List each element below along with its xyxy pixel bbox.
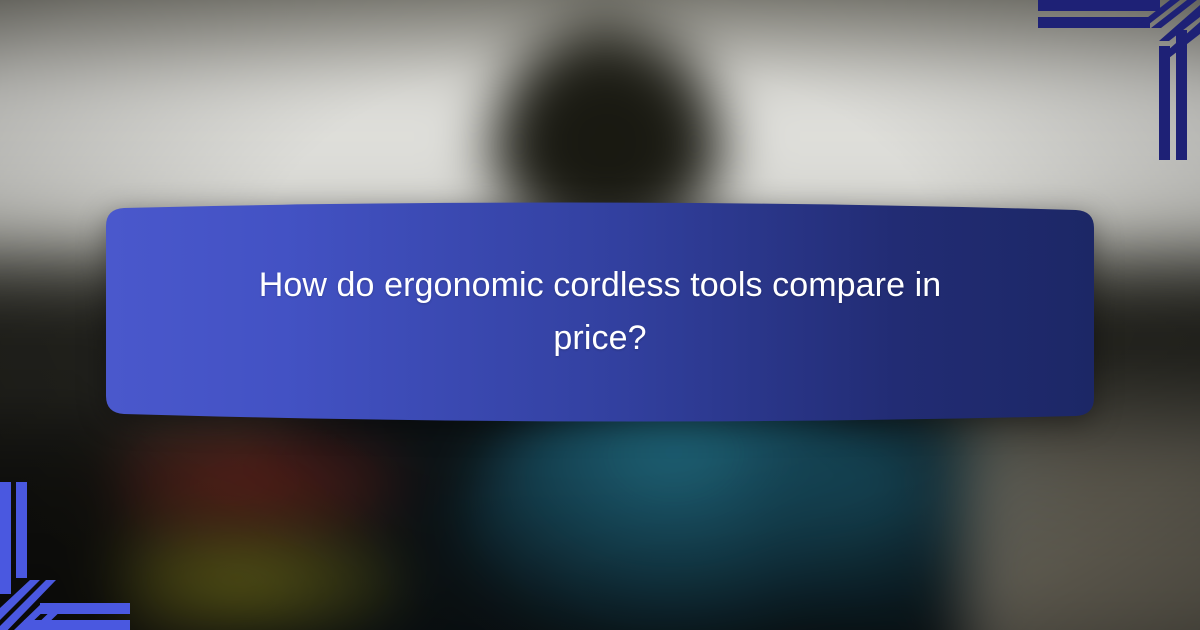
corner-bracket-top-right — [1030, 0, 1200, 160]
question-text: How do ergonomic cordless tools compare … — [210, 259, 990, 364]
question-card: How do ergonomic cordless tools compare … — [100, 196, 1100, 428]
corner-bracket-top-right-icon — [1030, 0, 1200, 160]
og-image-canvas: How do ergonomic cordless tools compare … — [0, 0, 1200, 630]
corner-bracket-bottom-left-icon — [0, 470, 170, 630]
corner-bracket-bottom-left — [0, 470, 170, 630]
question-card-text: How do ergonomic cordless tools compare … — [100, 196, 1100, 428]
